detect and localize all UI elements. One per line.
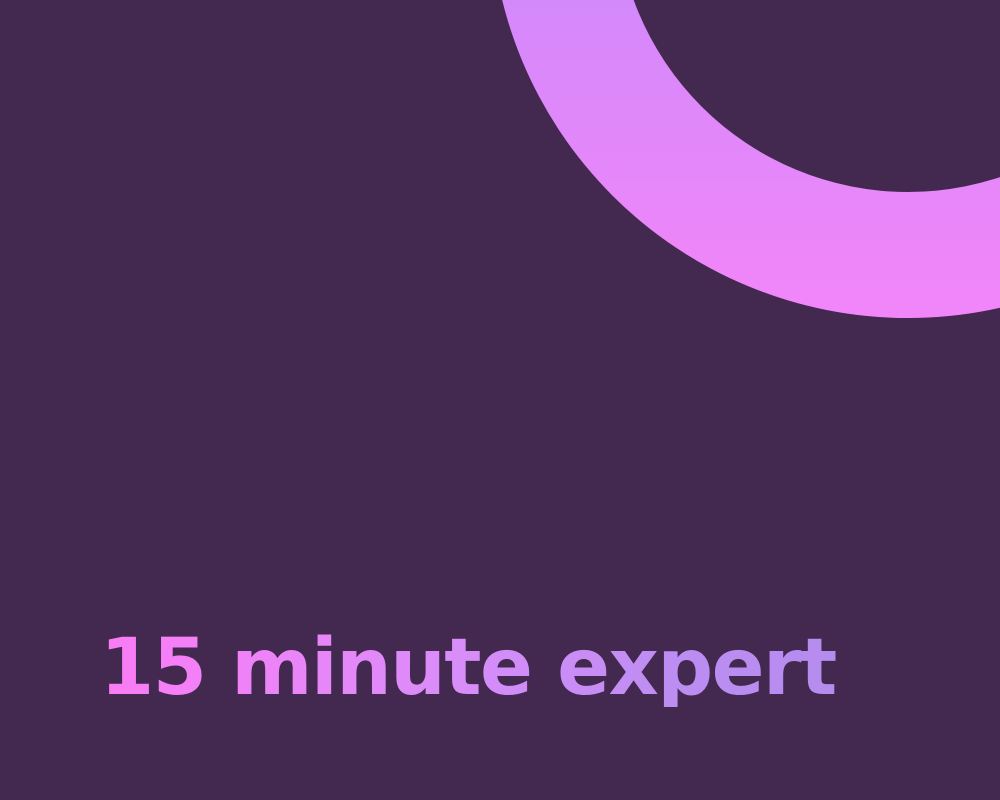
poster-canvas: 15 minute expert (0, 0, 1000, 800)
page-title: 15 minute expert (100, 629, 836, 707)
ring-fill (480, 0, 1000, 490)
